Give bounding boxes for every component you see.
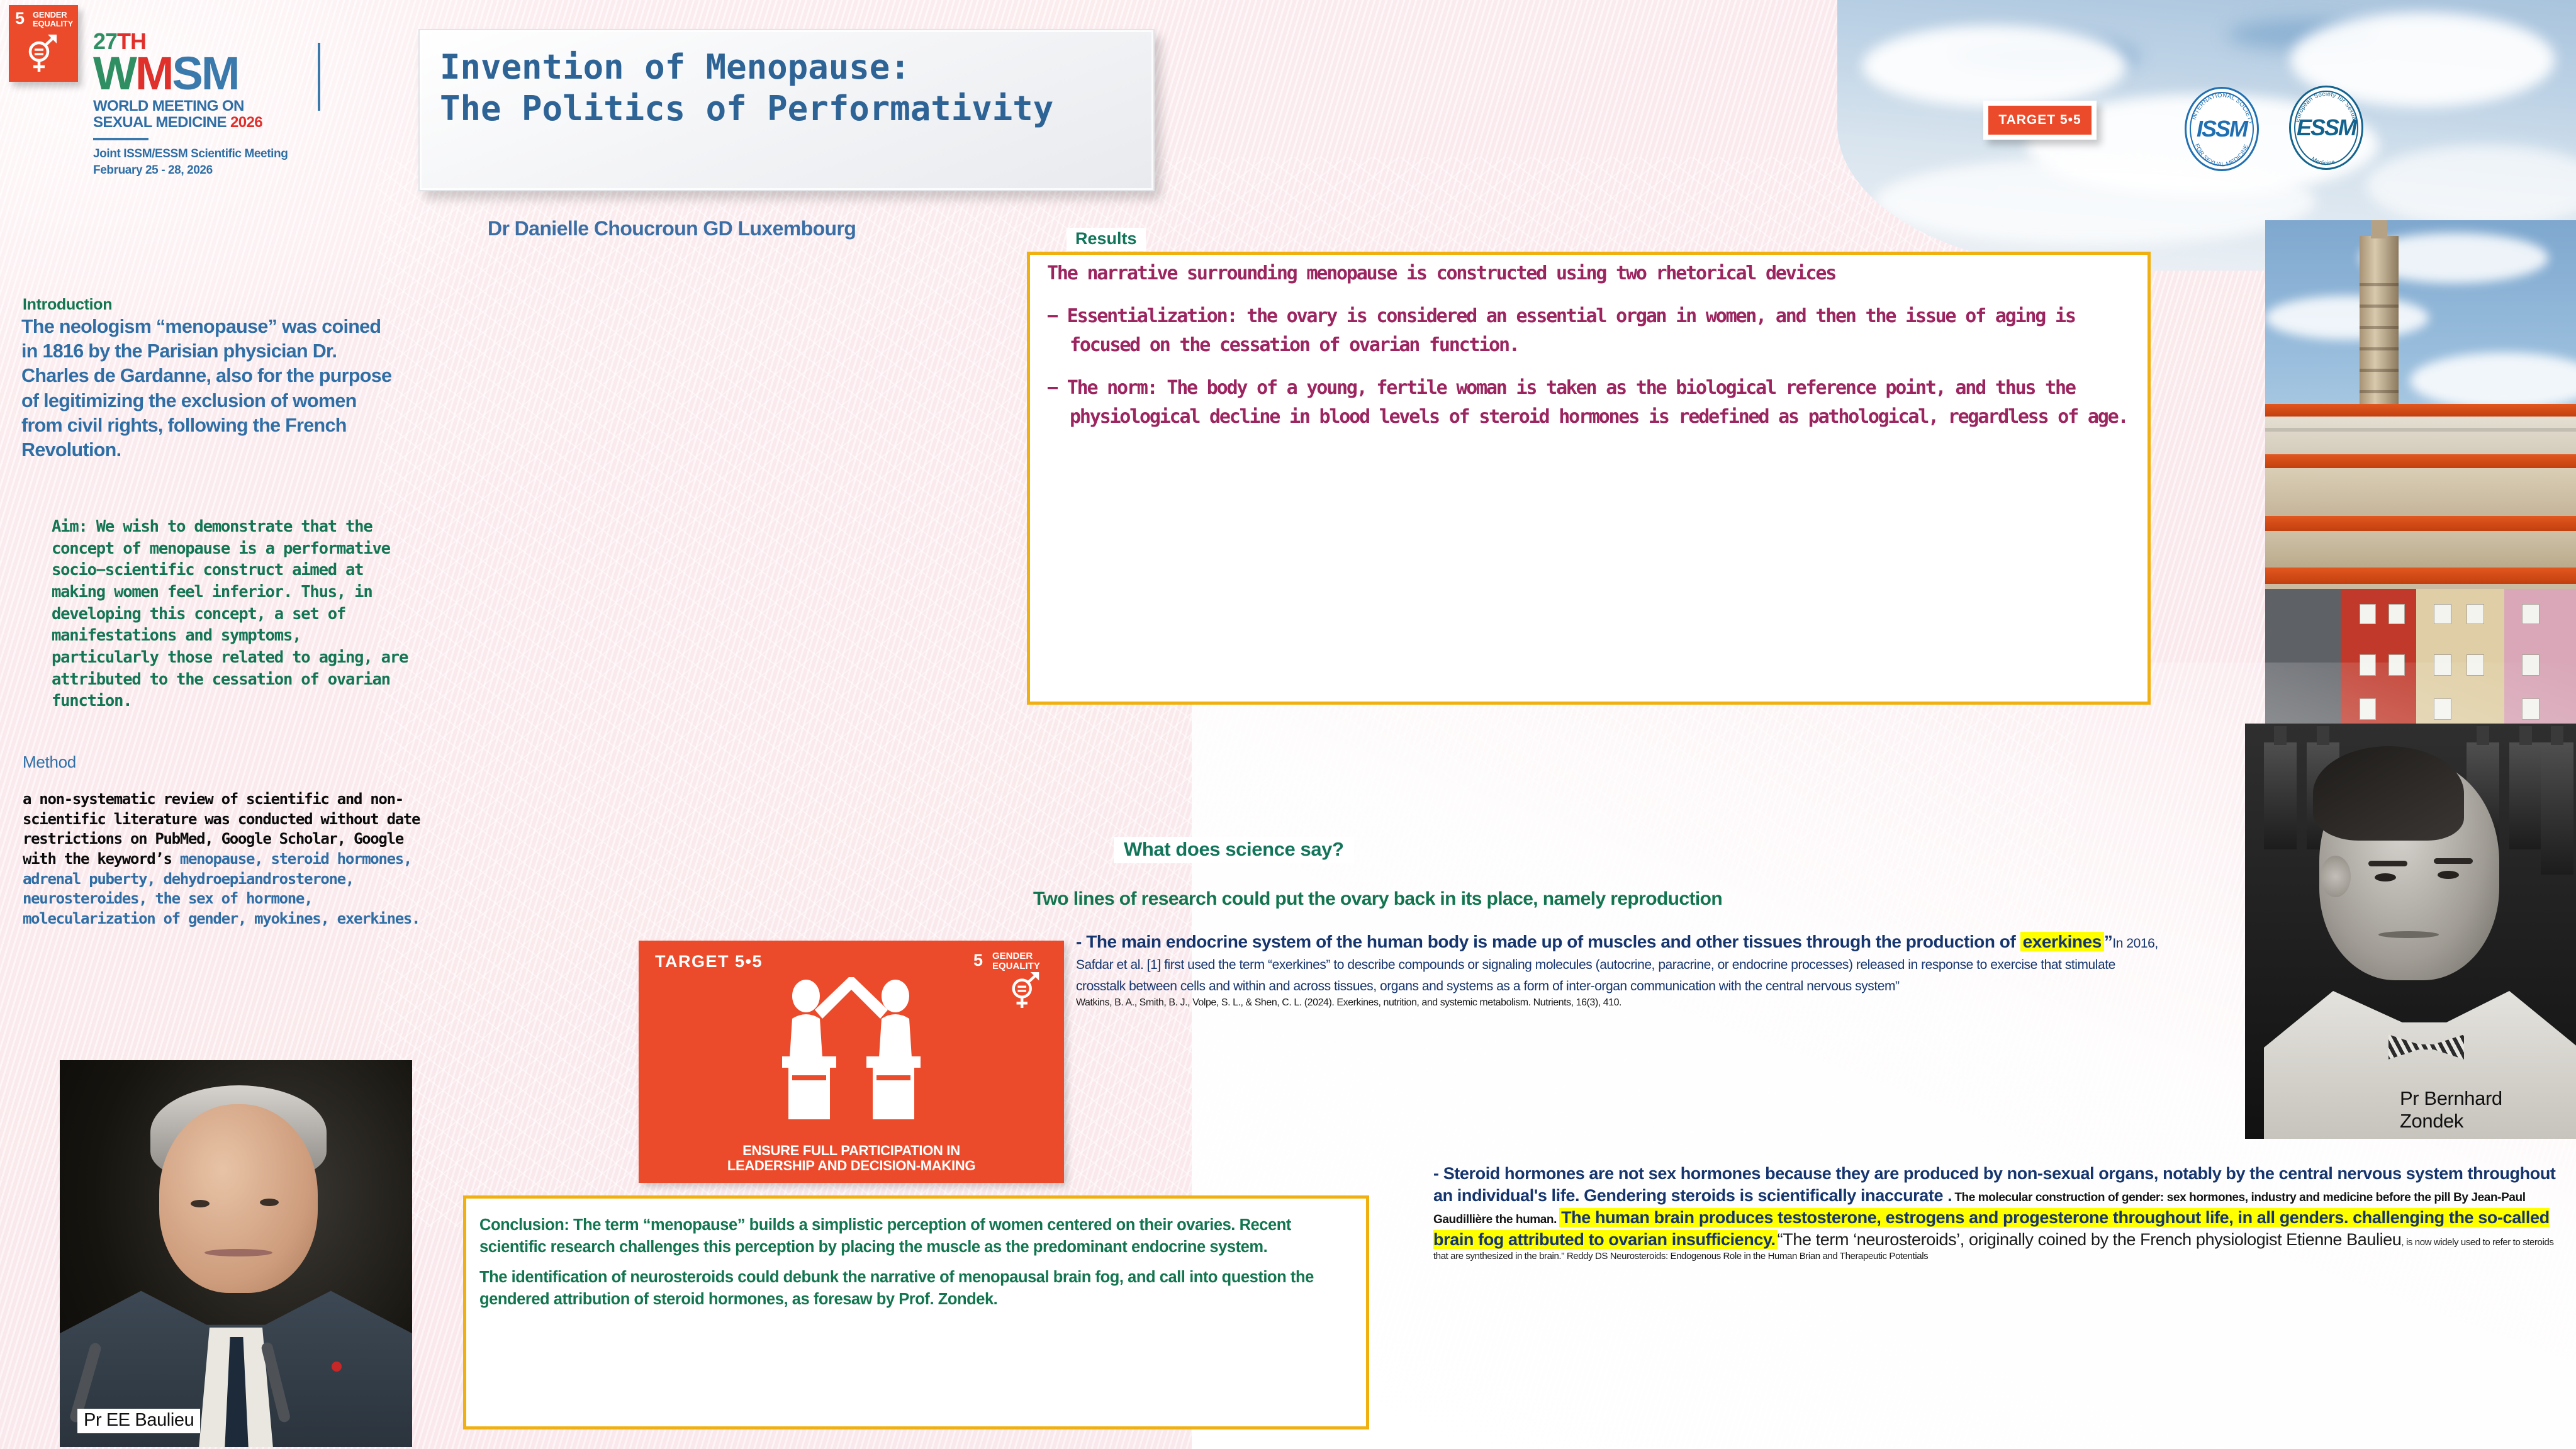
sdg-goal-number: 5 xyxy=(15,10,25,27)
exerkines-highlight: exerkines xyxy=(2020,932,2104,951)
photo-zondek: Pr Bernhard Zondek xyxy=(2245,724,2576,1139)
leadership-podium-icon xyxy=(757,971,946,1128)
steroid-reference: Reddy DS Neurosteroids: Endogenous Role … xyxy=(1567,1251,1928,1262)
exerkines-lead-post: ” xyxy=(2104,932,2113,951)
essm-logo: European Society for Sexual Medicine ESS… xyxy=(2289,86,2363,170)
svg-text:FOR SEXUAL MEDICINE: FOR SEXUAL MEDICINE xyxy=(2193,143,2250,169)
porto-cityscape-photo xyxy=(2265,220,2576,724)
sdg-target-5-5-graphic: TARGET 5•5 5 GENDEREQUALITY ENSURE FULL … xyxy=(639,941,1064,1183)
svg-text:Medicine: Medicine xyxy=(2310,155,2336,167)
results-tab-label: Results xyxy=(1067,228,1146,251)
conclusion-content: Conclusion: The term “menopause” builds … xyxy=(479,1214,1354,1319)
exerkines-reference: Watkins, B. A., Smith, B. J., Volpe, S. … xyxy=(1076,997,2158,1009)
science-subtitle: Two lines of research could put the ovar… xyxy=(1033,888,2229,910)
gender-equality-icon xyxy=(25,33,62,74)
method-body: a non-systematic review of scientific an… xyxy=(23,790,425,929)
poster-title: Invention of Menopause: The Politics of … xyxy=(420,30,1153,130)
poster-title-plate: Invention of Menopause: The Politics of … xyxy=(418,29,1155,191)
method-heading: Method xyxy=(23,752,76,772)
exerkines-block: - The main endocrine system of the human… xyxy=(1076,931,2158,1009)
sdg-target-label: TARGET 5•5 xyxy=(655,952,763,971)
results-bullet-essentialization: − Essentialization: the ovary is conside… xyxy=(1047,302,2142,360)
conclusion-paragraph-1: Conclusion: The term “menopause” builds … xyxy=(479,1214,1354,1258)
logo-divider-rule xyxy=(93,138,148,140)
sdg-target-goal-label: GENDEREQUALITY xyxy=(992,951,1040,971)
exerkines-lead-pre: - The main endocrine system of the human… xyxy=(1076,932,2020,951)
science-tab-label: What does science say? xyxy=(1114,837,1354,863)
sdg-target-caption: ENSURE FULL PARTICIPATION IN LEADERSHIP … xyxy=(639,1143,1064,1174)
aim-text: Aim: We wish to demonstrate that the con… xyxy=(52,516,417,712)
target-5-5-badge: TARGET 5•5 xyxy=(1983,101,2097,140)
logo-vertical-divider xyxy=(318,43,320,111)
sdg-goal-5-tile: 5 GENDEREQUALITY xyxy=(9,5,78,82)
sdg-goal-label: GENDEREQUALITY xyxy=(33,11,73,28)
issm-logo: INTERNATIONAL SOCIETY FOR SEXUAL MEDICIN… xyxy=(2185,87,2259,171)
results-intro: The narrative surrounding menopause is c… xyxy=(1047,259,2142,288)
conference-name: WORLD MEETING ON SEXUAL MEDICINE 2026 xyxy=(93,98,307,131)
baulieu-caption: Pr EE Baulieu xyxy=(77,1409,200,1433)
results-bullet-norm: − The norm: The body of a young, fertile… xyxy=(1047,374,2142,432)
sdg-target-goal-number: 5 xyxy=(973,951,983,970)
steroid-hormones-block: - Steroid hormones are not sex hormones … xyxy=(1433,1163,2566,1262)
poster-author: Dr Danielle Choucroun GD Luxembourg xyxy=(488,217,856,240)
results-content: The narrative surrounding menopause is c… xyxy=(1047,259,2142,445)
introduction-body: The neologism “menopause” was coined in … xyxy=(21,315,399,462)
introduction-heading: Introduction xyxy=(23,296,112,314)
meeting-details: Joint ISSM/ESSM Scientific Meeting Febru… xyxy=(93,146,307,178)
issm-monogram: ISSM xyxy=(2197,116,2247,142)
essm-monogram: ESSM xyxy=(2297,115,2356,141)
steroid-quote-pre: “The term ‘neurosteroids’, originally co… xyxy=(1778,1230,2402,1249)
conclusion-paragraph-2: The identification of neurosteroids coul… xyxy=(479,1267,1354,1310)
sdg-target-gender-icon xyxy=(1009,970,1044,1011)
exerkines-lead: - The main endocrine system of the human… xyxy=(1076,931,2158,995)
zondek-caption: Pr Bernhard Zondek xyxy=(2394,1086,2576,1135)
wmsm-conference-logo: 27TH WMSM WORLD MEETING ON SEXUAL MEDICI… xyxy=(93,30,307,178)
conference-acronym: WMSM xyxy=(93,52,307,96)
photo-baulieu: Pr EE Baulieu xyxy=(60,1060,412,1447)
